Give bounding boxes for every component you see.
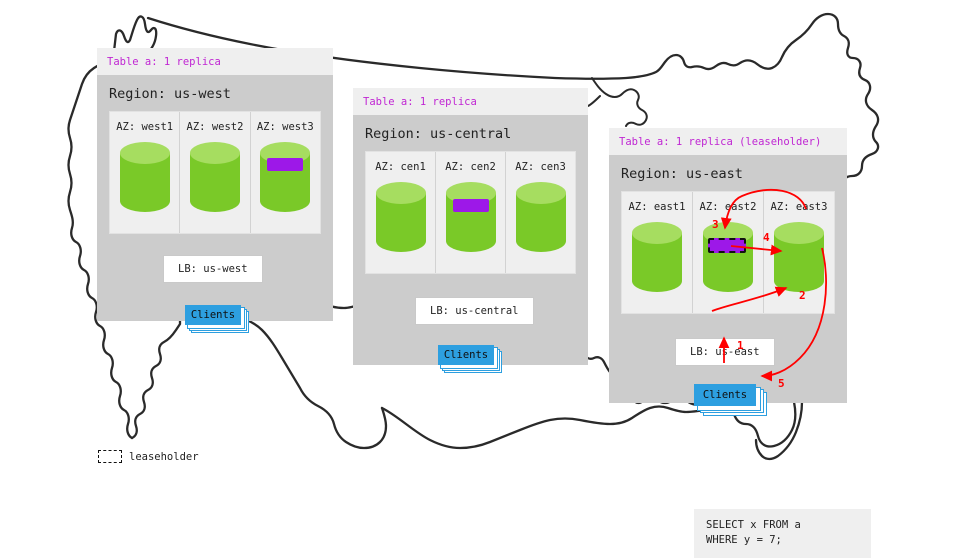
- legend: leaseholder: [98, 450, 199, 463]
- cylinder-icon: [118, 141, 172, 213]
- cylinder-cen3: [514, 181, 568, 257]
- arrow-label-3: 3: [712, 218, 719, 231]
- az-cell-west1[interactable]: AZ: west1: [110, 112, 180, 233]
- az-cell-cen1[interactable]: AZ: cen1: [366, 152, 436, 273]
- region-body-us-central: Region: us-central AZ: cen1 AZ: cen2: [353, 115, 588, 365]
- region-title-us-west: Region: us-west: [97, 75, 333, 111]
- cylinder-icon: [374, 181, 428, 253]
- cylinder-icon: [772, 221, 826, 293]
- sql-query-box: SELECT x FROM a WHERE y = 7;: [694, 509, 871, 558]
- lb-box-us-central[interactable]: LB: us-central: [415, 297, 534, 325]
- region-body-us-west: Region: us-west AZ: west1 AZ: west2: [97, 75, 333, 321]
- cylinder-east3: [772, 221, 826, 297]
- lb-box-us-east[interactable]: LB: us-east: [675, 338, 775, 366]
- clients-button-us-east[interactable]: Clients: [694, 384, 756, 406]
- clients-stack-us-east: Clients: [694, 384, 764, 412]
- az-cell-east1[interactable]: AZ: east1: [622, 192, 693, 313]
- us-gulf-texas-curve: [382, 407, 734, 449]
- region-panel-us-central: Table a: 1 replica Region: us-central AZ…: [353, 88, 588, 365]
- az-label-east1: AZ: east1: [622, 201, 692, 213]
- region-title-us-east: Region: us-east: [609, 155, 847, 191]
- leaseholder-swatch-icon: [98, 450, 122, 463]
- cylinder-west3: [258, 141, 312, 217]
- arrow-label-2: 2: [799, 289, 806, 302]
- replica-chip-west3: [267, 158, 303, 171]
- arrow-label-1: 1: [737, 339, 744, 352]
- az-label-west1: AZ: west1: [110, 121, 179, 133]
- legend-label: leaseholder: [129, 451, 199, 463]
- arrow-label-4: 4: [763, 231, 770, 244]
- az-label-east2: AZ: east2: [693, 201, 763, 213]
- az-cell-west3[interactable]: AZ: west3: [251, 112, 320, 233]
- az-label-east3: AZ: east3: [764, 201, 834, 213]
- cylinder-west1: [118, 141, 172, 217]
- clients-stack-us-west: Clients: [185, 305, 247, 331]
- region-title-us-central: Region: us-central: [353, 115, 588, 151]
- table-header-us-east: Table a: 1 replica (leaseholder): [609, 128, 847, 155]
- az-row-us-west: AZ: west1 AZ: west2: [109, 111, 321, 234]
- clients-stack-us-central: Clients: [438, 345, 500, 371]
- region-panel-us-east: Table a: 1 replica (leaseholder) Region:…: [609, 128, 847, 403]
- replica-chip-cen2: [453, 199, 489, 212]
- diagram-canvas: Table a: 1 replica Region: us-west AZ: w…: [0, 0, 960, 540]
- arrow-label-5: 5: [778, 377, 785, 390]
- lb-box-us-west[interactable]: LB: us-west: [163, 255, 263, 283]
- az-label-cen1: AZ: cen1: [366, 161, 435, 173]
- cylinder-cen2: [444, 181, 498, 257]
- az-cell-cen2[interactable]: AZ: cen2: [436, 152, 506, 273]
- cylinder-icon: [188, 141, 242, 213]
- az-label-west2: AZ: west2: [180, 121, 249, 133]
- cylinder-icon: [514, 181, 568, 253]
- clients-button-us-central[interactable]: Clients: [438, 345, 494, 365]
- region-panel-us-west: Table a: 1 replica Region: us-west AZ: w…: [97, 48, 333, 321]
- cylinder-icon: [701, 221, 755, 293]
- cylinder-east1: [630, 221, 684, 297]
- cylinder-icon: [630, 221, 684, 293]
- clients-button-us-west[interactable]: Clients: [185, 305, 241, 325]
- cylinder-cen1: [374, 181, 428, 257]
- az-cell-cen3[interactable]: AZ: cen3: [506, 152, 575, 273]
- leaseholder-chip-east2: [708, 238, 746, 253]
- az-label-west3: AZ: west3: [251, 121, 320, 133]
- az-label-cen3: AZ: cen3: [506, 161, 575, 173]
- cylinder-west2: [188, 141, 242, 217]
- az-label-cen2: AZ: cen2: [436, 161, 505, 173]
- cylinder-icon: [258, 141, 312, 213]
- table-header-us-west: Table a: 1 replica: [97, 48, 333, 75]
- az-row-us-central: AZ: cen1 AZ: cen2: [365, 151, 576, 274]
- az-cell-west2[interactable]: AZ: west2: [180, 112, 250, 233]
- az-cell-east2[interactable]: AZ: east2: [693, 192, 764, 313]
- table-header-us-central: Table a: 1 replica: [353, 88, 588, 115]
- cylinder-icon: [444, 181, 498, 253]
- region-body-us-east: Region: us-east AZ: east1 AZ: east2: [609, 155, 847, 403]
- cylinder-east2: [701, 221, 755, 297]
